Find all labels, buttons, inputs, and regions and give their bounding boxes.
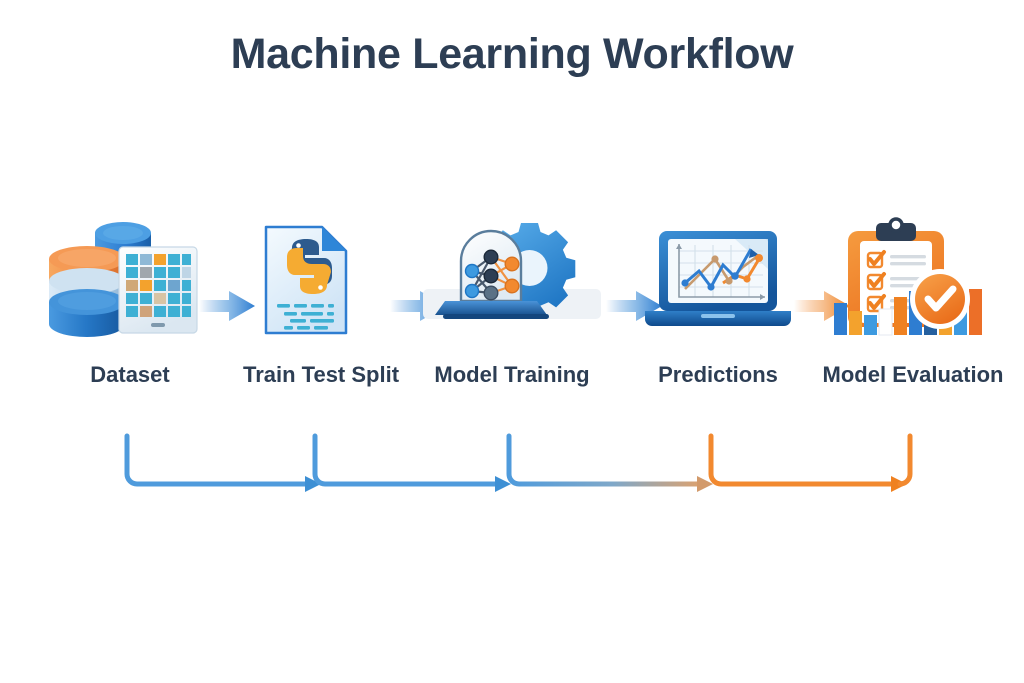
- feedback-arrow-1: [127, 436, 321, 492]
- stage-label-dataset: Dataset: [35, 360, 225, 389]
- feedback-arrow-2: [315, 436, 511, 492]
- diagram-canvas: Machine Learning Workflow: [0, 0, 1024, 683]
- page-title: Machine Learning Workflow: [0, 30, 1024, 79]
- laptop-neural-network-gear-icon: [417, 215, 607, 345]
- stage-label-model-training: Model Training: [417, 360, 607, 389]
- spreadsheet-grid: [119, 247, 197, 333]
- stage-model-evaluation[interactable]: Model Evaluation: [818, 215, 1008, 425]
- stage-label-predictions: Predictions: [623, 360, 813, 389]
- laptop-line-chart-icon: [623, 215, 813, 345]
- stage-model-training[interactable]: Model Training: [417, 215, 607, 425]
- stage-label-train-test-split: Train Test Split: [226, 360, 416, 389]
- stage-label-model-evaluation: Model Evaluation: [818, 360, 1008, 389]
- database-front-stack: [49, 246, 125, 337]
- laptop-lid: [659, 231, 777, 311]
- check-badge: [910, 269, 970, 329]
- laptop-base: [645, 311, 791, 326]
- feedback-arrow-4: [711, 436, 910, 492]
- feedback-arrow-group: [0, 420, 1024, 530]
- clipboard-checklist-bars-icon: [818, 215, 1008, 345]
- stage-predictions[interactable]: Predictions: [623, 215, 813, 425]
- feedback-arrow-3: [509, 436, 713, 492]
- laptop-base: [435, 301, 549, 319]
